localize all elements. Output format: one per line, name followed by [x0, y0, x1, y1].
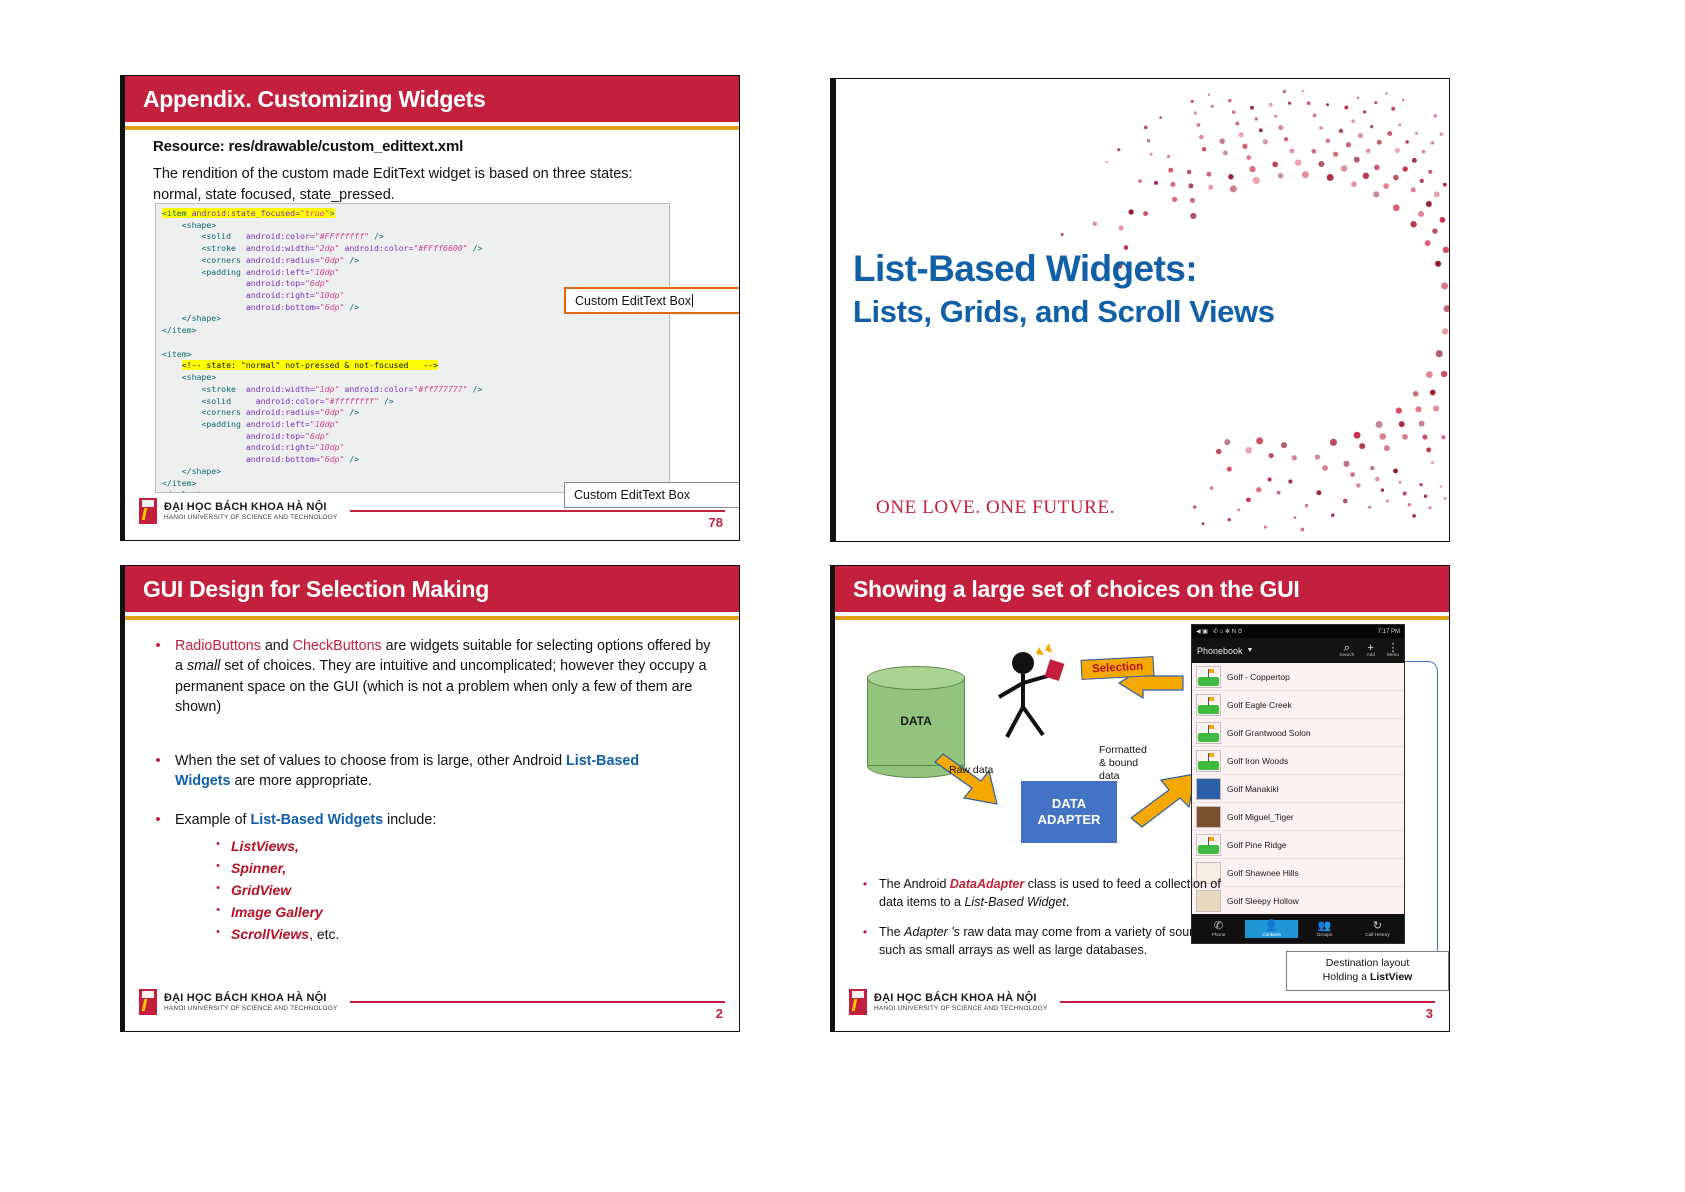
contact-avatar: [1196, 750, 1221, 772]
custom-edittext-focused-value: Custom EditText Box: [575, 294, 691, 308]
selection-badge: Selection: [1081, 656, 1155, 680]
list-item: •Image Gallery: [205, 903, 436, 923]
slide1-resource-label: Resource: res/drawable/custom_edittext.x…: [153, 138, 463, 155]
example-spinner: Spinner,: [231, 859, 286, 879]
slide4-page-number: 3: [1426, 1006, 1433, 1021]
cylinder-top: [867, 666, 965, 690]
bullet-marker: •: [205, 859, 231, 879]
s4b1-tail: .: [1066, 895, 1069, 909]
slide-title-list-based-widgets[interactable]: List-Based Widgets: Lists, Grids, and Sc…: [830, 78, 1450, 542]
contact-avatar: [1196, 694, 1221, 716]
slide-large-set-of-choices[interactable]: Showing a large set of choices on the GU…: [830, 565, 1450, 1032]
contact-name: Golf Sleepy Hollow: [1227, 896, 1299, 906]
contact-avatar: [1196, 666, 1221, 688]
contact-list-item[interactable]: Golf Eagle Creek: [1192, 691, 1404, 719]
bullet-text: When the set of values to choose from is…: [175, 751, 687, 792]
custom-edittext-focused[interactable]: Custom EditText Box: [564, 287, 740, 314]
phone-status-bar: ◀ ▣ ✆ ⌂ ✻ N ⏱ 7:17 PM: [1192, 625, 1404, 638]
contact-list-item[interactable]: Golf Shawnee Hills: [1192, 859, 1404, 887]
hust-logo-icon: [139, 498, 157, 524]
list-item: •Spinner,: [205, 859, 436, 879]
slide3-footer: ĐẠI HỌC BÁCH KHOA HÀ NỘI HANOI UNIVERSIT…: [139, 987, 725, 1017]
slide4-header-rule: [835, 616, 1449, 620]
nav-call-history[interactable]: ↻Call History: [1351, 920, 1404, 939]
phone-action-bar: Phonebook ▼ ⌕Search +Add ⋮Menu: [1192, 638, 1404, 663]
bullet2-tail: are more appropriate.: [230, 773, 371, 789]
slide4-footer: ĐẠI HỌC BÁCH KHOA HÀ NỘI HANOI UNIVERSIT…: [849, 987, 1435, 1017]
example-tail: , etc.: [309, 926, 339, 942]
term-list-based-widget: List-Based Widget: [964, 895, 1065, 909]
menu-button[interactable]: ⋮Menu: [1387, 643, 1399, 659]
nav-contacts-label: Contacts: [1262, 933, 1281, 938]
slide3-bullet-list: • RadioButtons and CheckButtons are widg…: [141, 636, 721, 959]
status-time: 7:17 PM: [1378, 629, 1400, 635]
cylinder-label: DATA: [867, 714, 965, 728]
contact-name: Golf Miguel_Tiger: [1227, 812, 1294, 822]
contacts-listview[interactable]: Golf - CoppertopGolf Eagle CreekGolf Gra…: [1192, 663, 1404, 914]
formatted-data-label: Formatted & bound data: [1099, 744, 1147, 783]
slide3-title: GUI Design for Selection Making: [125, 576, 489, 603]
contact-name: Golf Shawnee Hills: [1227, 868, 1299, 878]
title-line-2: Lists, Grids, and Scroll Views: [853, 295, 1373, 329]
contact-name: Golf Pine Ridge: [1227, 840, 1287, 850]
slide3-page-number: 2: [716, 1006, 723, 1021]
hust-logo-text: ĐẠI HỌC BÁCH KHOA HÀ NỘI HANOI UNIVERSIT…: [164, 992, 338, 1012]
contact-name: Golf - Coppertop: [1227, 672, 1290, 682]
list-item: •GridView: [205, 881, 436, 901]
slide-contact-sheet: Appendix. Customizing Widgets Resource: …: [0, 0, 1685, 1192]
groups-icon: 👥: [1298, 920, 1351, 933]
contact-list-item[interactable]: Golf Manakiki: [1192, 775, 1404, 803]
slide4-title: Showing a large set of choices on the GU…: [835, 576, 1300, 603]
bullet-item: • The Android DataAdapter class is used …: [851, 876, 1221, 911]
contact-name: Golf Manakiki: [1227, 784, 1279, 794]
bullet-marker: •: [205, 925, 231, 945]
example-listviews: ListViews,: [231, 837, 299, 857]
xml-code-block: <item android:state_focused="true"> <sha…: [155, 203, 670, 493]
footer-divider: [1060, 1001, 1435, 1003]
term-adapters: Adapter 's: [904, 925, 960, 939]
bullet-marker: •: [205, 903, 231, 923]
bullet-text: RadioButtons and CheckButtons are widget…: [175, 636, 721, 717]
examples-list: •ListViews, •Spinner, •GridView •Image G…: [205, 837, 436, 944]
title-block: List-Based Widgets: Lists, Grids, and Sc…: [853, 249, 1373, 329]
bullet-item: • RadioButtons and CheckButtons are widg…: [141, 636, 721, 717]
tagline: ONE LOVE. ONE FUTURE.: [876, 497, 1115, 519]
bullet-marker: •: [851, 924, 879, 959]
term-radiobuttons: RadioButtons: [175, 638, 261, 654]
footer-divider: [350, 1001, 725, 1003]
s4b2-lead: The: [879, 925, 904, 939]
slide3-header-rule: [125, 616, 739, 620]
add-button[interactable]: +Add: [1366, 643, 1375, 659]
hust-logo-text: ĐẠI HỌC BÁCH KHOA HÀ NỘI HANOI UNIVERSIT…: [164, 501, 338, 521]
bullet3-lead: Example of: [175, 812, 251, 828]
org-name-vi: ĐẠI HỌC BÁCH KHOA HÀ NỘI: [164, 501, 338, 513]
data-adapter-box: DATA ADAPTER: [1021, 781, 1117, 843]
bullet-marker: •: [141, 636, 175, 717]
contact-name: Golf Iron Woods: [1227, 756, 1288, 766]
slide1-title: Appendix. Customizing Widgets: [125, 86, 485, 113]
slide-left-accent-bar: [831, 566, 835, 1031]
destination-line-2-pre: Holding a: [1323, 971, 1370, 983]
slide-gui-design-selection-making[interactable]: GUI Design for Selection Making • RadioB…: [120, 565, 740, 1032]
bullet1-conj: and: [261, 638, 293, 654]
nav-history-label: Call History: [1365, 933, 1390, 938]
bullet-item: • When the set of values to choose from …: [141, 751, 721, 792]
slide1-header: Appendix. Customizing Widgets: [125, 76, 739, 122]
search-label: Search: [1339, 653, 1354, 658]
slide1-header-rule: [125, 126, 739, 130]
term-dataadapter: DataAdapter: [950, 877, 1024, 891]
raw-data-label: Raw data: [949, 764, 993, 777]
slide1-footer: ĐẠI HỌC BÁCH KHOA HÀ NỘI HANOI UNIVERSIT…: [139, 496, 725, 526]
list-item: •ScrollViews, etc.: [205, 925, 436, 945]
contact-name: Golf Eagle Creek: [1227, 700, 1292, 710]
bullet-marker: •: [851, 876, 879, 911]
bullet3-tail: include:: [383, 812, 436, 828]
contact-avatar: [1196, 722, 1221, 744]
contact-list-item[interactable]: Golf Pine Ridge: [1192, 831, 1404, 859]
chevron-down-icon[interactable]: ▼: [1247, 647, 1254, 654]
example-image-gallery: Image Gallery: [231, 903, 323, 923]
bullet-marker: •: [141, 751, 175, 792]
slide1-page-number: 78: [709, 515, 723, 530]
adapter-line-1: DATA: [1052, 796, 1086, 812]
text-caret: [692, 294, 693, 307]
title-line-1: List-Based Widgets:: [853, 249, 1373, 289]
term-list-based-widgets-2: List-Based Widgets: [251, 812, 384, 828]
slide-left-accent-bar: [121, 566, 125, 1031]
footer-divider: [350, 510, 725, 512]
contact-list-item[interactable]: Golf Sleepy Hollow: [1192, 887, 1404, 914]
contact-list-item[interactable]: Golf Miguel_Tiger: [1192, 803, 1404, 831]
destination-line-2: Holding a ListView: [1323, 971, 1413, 985]
destination-layout-callout: Destination layout Holding a ListView: [1286, 951, 1449, 991]
history-icon: ↻: [1351, 920, 1404, 933]
example-scrollviews-label: ScrollViews: [231, 926, 309, 942]
contacts-icon: 👤: [1245, 920, 1298, 933]
org-name-vi: ĐẠI HỌC BÁCH KHOA HÀ NỘI: [164, 992, 338, 1004]
bullet-marker: •: [141, 810, 175, 947]
phone-bottom-nav: ✆Phone 👤Contacts 👥Groups ↻Call History: [1192, 914, 1404, 944]
android-phone-mockup[interactable]: ◀ ▣ ✆ ⌂ ✻ N ⏱ 7:17 PM Phonebook ▼ ⌕Searc…: [1191, 624, 1405, 944]
add-label: Add: [1366, 653, 1375, 658]
status-icons-left: ◀ ▣ ✆ ⌂ ✻ N ⏱: [1196, 628, 1242, 636]
slide3-header: GUI Design for Selection Making: [125, 566, 739, 612]
slide-left-accent-bar: [121, 76, 125, 540]
bullet-marker: •: [205, 837, 231, 857]
bullet-item: • The Adapter 's raw data may come from …: [851, 924, 1221, 959]
nav-contacts[interactable]: 👤Contacts: [1245, 920, 1298, 939]
adapter-line-2: ADAPTER: [1038, 812, 1101, 828]
contact-avatar: [1196, 834, 1221, 856]
contact-list-item[interactable]: Golf Grantwood Solon: [1192, 719, 1404, 747]
bullet-marker: •: [205, 881, 231, 901]
bullet-text: The Adapter 's raw data may come from a …: [879, 924, 1221, 959]
org-name-en: HANOI UNIVERSITY OF SCIENCE AND TECHNOLO…: [164, 514, 338, 521]
destination-line-1: Destination layout: [1326, 957, 1409, 971]
org-name-en: HANOI UNIVERSITY OF SCIENCE AND TECHNOLO…: [874, 1005, 1048, 1012]
hust-logo-text: ĐẠI HỌC BÁCH KHOA HÀ NỘI HANOI UNIVERSIT…: [874, 992, 1048, 1012]
bullet2-lead: When the set of values to choose from is…: [175, 753, 566, 769]
stick-figure-icon: [981, 641, 1091, 746]
bullet-text: Example of List-Based Widgets include: •…: [175, 810, 436, 947]
search-button[interactable]: ⌕Search: [1339, 643, 1354, 659]
example-scrollviews: ScrollViews, etc.: [231, 925, 339, 945]
bullet-text: The Android DataAdapter class is used to…: [879, 876, 1221, 911]
org-name-en: HANOI UNIVERSITY OF SCIENCE AND TECHNOLO…: [164, 1005, 338, 1012]
slide1-paragraph: The rendition of the custom made EditTex…: [153, 164, 673, 205]
nav-groups-label: Groups: [1317, 933, 1333, 938]
hust-logo-icon: [139, 989, 157, 1015]
example-gridview: GridView: [231, 881, 291, 901]
contact-name: Golf Grantwood Solon: [1227, 728, 1311, 738]
s4b1-lead: The Android: [879, 877, 950, 891]
destination-line-2-bold: ListView: [1370, 971, 1412, 983]
slide-appendix-customizing-widgets[interactable]: Appendix. Customizing Widgets Resource: …: [120, 75, 740, 541]
bullet1-tail: set of choices. They are intuitive and u…: [175, 658, 706, 715]
list-item: •ListViews,: [205, 837, 436, 857]
data-cylinder: DATA: [867, 666, 965, 776]
menu-label: Menu: [1387, 653, 1399, 658]
slide4-header: Showing a large set of choices on the GU…: [835, 566, 1449, 612]
slide4-bullet-list: • The Android DataAdapter class is used …: [851, 876, 1221, 972]
contact-avatar: [1196, 778, 1221, 800]
phone-app-title: Phonebook: [1197, 646, 1243, 656]
org-name-vi: ĐẠI HỌC BÁCH KHOA HÀ NỘI: [874, 992, 1048, 1004]
contact-list-item[interactable]: Golf Iron Woods: [1192, 747, 1404, 775]
term-small: small: [187, 658, 220, 674]
term-checkbuttons: CheckButtons: [293, 638, 382, 654]
contact-avatar: [1196, 806, 1221, 828]
bullet-item: • Example of List-Based Widgets include:…: [141, 810, 721, 947]
contact-list-item[interactable]: Golf - Coppertop: [1192, 663, 1404, 691]
hust-logo-icon: [849, 989, 867, 1015]
nav-groups[interactable]: 👥Groups: [1298, 920, 1351, 939]
phone-action-group: ⌕Search +Add ⋮Menu: [1339, 643, 1399, 659]
